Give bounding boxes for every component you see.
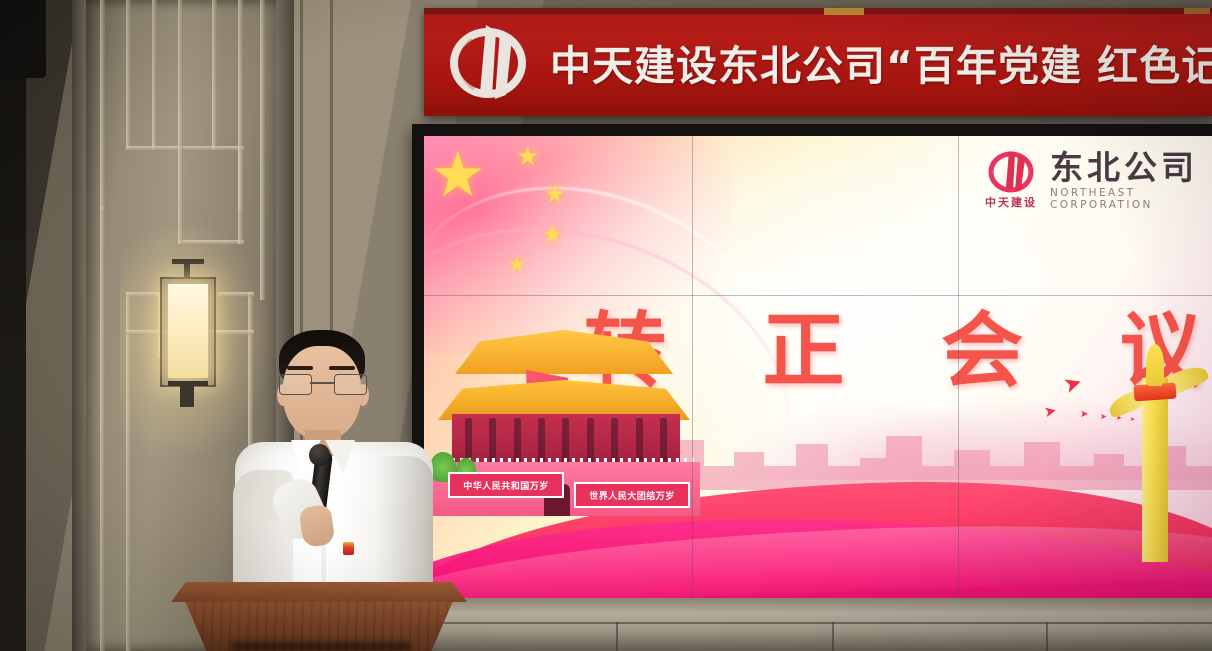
slogan-board-left: 中华人民共和国万岁	[448, 472, 564, 498]
event-banner: 中天建设东北公司“百年党建 红色记忆”党日活动	[424, 8, 1212, 116]
flag-star-3: ★	[542, 224, 563, 247]
wooden-podium	[171, 582, 467, 651]
podium-floor-shadow	[231, 642, 411, 651]
zhongtian-mark-icon: 中天建设	[984, 150, 1038, 212]
flag-star-2: ★	[544, 182, 566, 206]
video-wall-display: ★ ★ ★ ★ ★ 中天建设 东北公司 NORTHEAST CORPORATIO…	[424, 136, 1212, 598]
screen-brand-name: 东北公司	[1050, 151, 1212, 184]
speaker-figure	[225, 330, 440, 620]
flag-star-1: ★	[516, 144, 539, 170]
dove-icon-3: ➤	[1080, 410, 1088, 420]
huabiao-column-icon	[1126, 342, 1182, 562]
banner-text: 中天建设东北公司“百年党建 红色记忆”党日活动	[550, 32, 1212, 92]
screen-brand-logo: 中天建设 东北公司 NORTHEAST CORPORATION	[984, 150, 1212, 212]
flag-star-large: ★	[430, 144, 486, 206]
party-badge-icon	[343, 542, 354, 555]
panel-seam-horizontal	[424, 295, 1212, 296]
panel-seam-vertical-2	[958, 136, 959, 598]
photo-scene: 中天建设东北公司“百年党建 红色记忆”党日活动 ★ ★ ★ ★ ★ 中天建设	[0, 0, 1212, 651]
panel-seam-vertical-1	[692, 136, 693, 598]
stage-base-wall	[400, 598, 1212, 651]
flag-star-4: ★	[508, 254, 526, 274]
wall-sconce-icon	[160, 277, 216, 387]
slogan-board-right: 世界人民大团结万岁	[574, 482, 690, 508]
wall-left-shadow	[0, 0, 26, 651]
ceiling-fixture	[0, 0, 46, 78]
zhongtian-construction-logo-icon	[442, 21, 534, 103]
podium-top	[171, 582, 467, 602]
zhongtian-mark-caption: 中天建设	[984, 194, 1038, 210]
tiananmen-gate-icon: 中华人民共和国万岁 世界人民大团结万岁	[434, 326, 694, 516]
screen-brand-subtitle: NORTHEAST CORPORATION	[1050, 187, 1212, 211]
glasses-icon	[279, 374, 365, 393]
dove-icon-4: ➤	[1100, 413, 1107, 421]
